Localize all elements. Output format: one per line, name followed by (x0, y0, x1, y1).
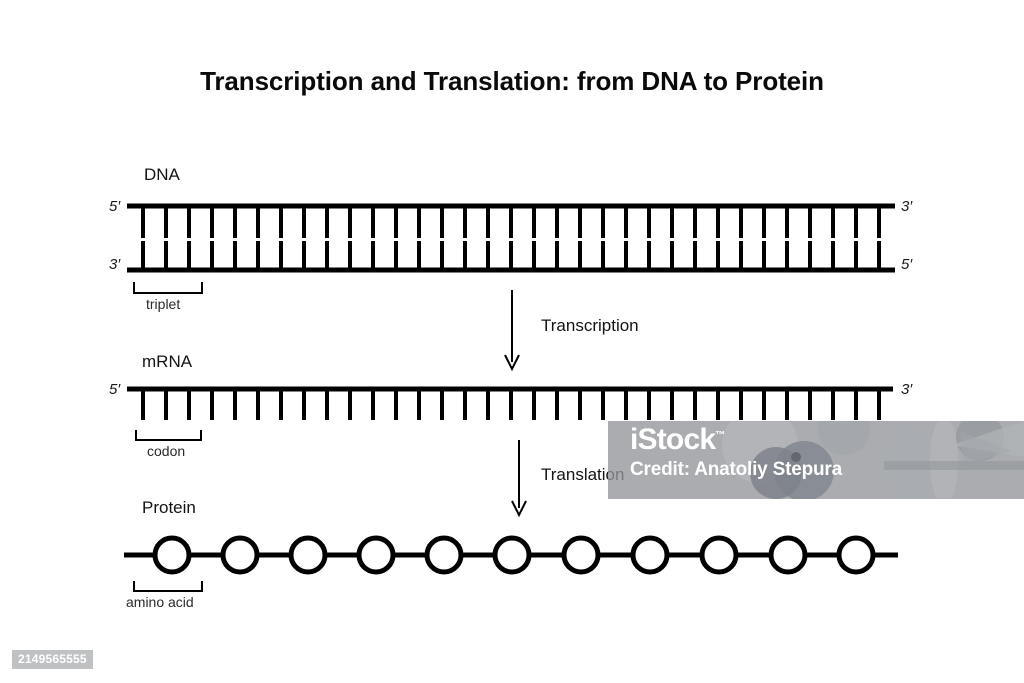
istock-watermark: iStock™ Credit: Anatoliy Stepura (608, 421, 1024, 499)
diagram-artwork (0, 0, 1024, 683)
dna-bottom-left-prime: 3′ (109, 256, 120, 273)
dna-bottom-right-prime: 5′ (901, 256, 912, 273)
dna-top-left-prime: 5′ (109, 198, 120, 215)
istock-logo: iStock™ (630, 423, 725, 457)
dna-top-right-prime: 3′ (901, 198, 912, 215)
triplet-label: triplet (146, 296, 180, 312)
dna-bottom-ticks (143, 241, 879, 270)
translation-arrow (512, 440, 526, 515)
istock-logo-text: iStock (630, 423, 715, 456)
codon-label: codon (147, 443, 185, 459)
mrna-section-label: mRNA (142, 352, 192, 372)
protein-section-label: Protein (142, 498, 196, 518)
amino-acid-bracket (134, 581, 202, 591)
mrna-ticks (143, 389, 879, 420)
codon-bracket (136, 430, 201, 440)
dna-top-ticks (143, 206, 879, 238)
transcription-label: Transcription (541, 316, 639, 336)
trademark-icon: ™ (715, 430, 725, 441)
stock-id-badge: 2149565555 (12, 650, 93, 669)
mrna-right-prime: 3′ (901, 381, 912, 398)
diagram-canvas: Transcription and Translation: from DNA … (0, 0, 1024, 683)
transcription-arrow (505, 290, 519, 369)
triplet-bracket (134, 282, 202, 293)
protein-chain (124, 538, 898, 572)
mrna-left-prime: 5′ (109, 381, 120, 398)
watermark-credit: Credit: Anatoliy Stepura (630, 459, 842, 481)
dna-section-label: DNA (144, 165, 180, 185)
amino-acid-label: amino acid (126, 594, 194, 610)
